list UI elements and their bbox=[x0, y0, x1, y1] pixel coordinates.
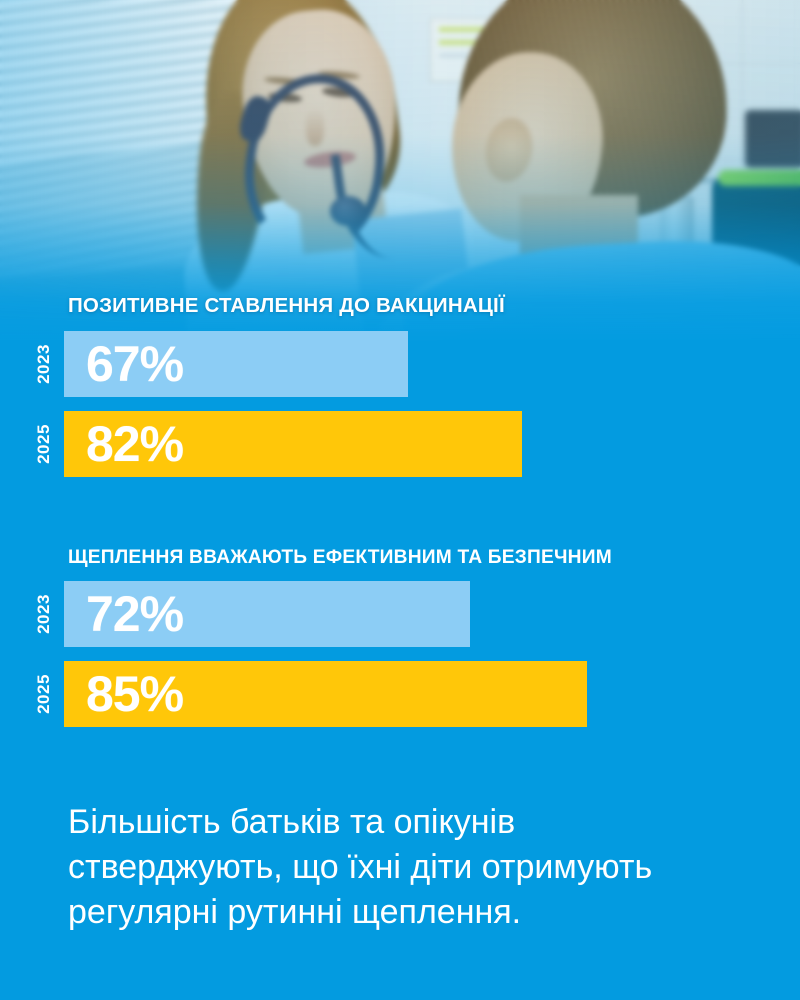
caption-line-1: Більшість батьків та опікунів bbox=[68, 800, 768, 845]
bar-value-label: 67% bbox=[86, 339, 183, 389]
chart-section-efficacy: ЩЕПЛЕННЯ ВВАЖАЮТЬ ЕФЕКТИВНИМ ТА БЕЗПЕЧНИ… bbox=[0, 548, 800, 727]
chart-title-attitude: ПОЗИТИВНЕ СТАВЛЕННЯ ДО ВАКЦИНАЦІЇ bbox=[68, 296, 800, 317]
year-axis-label-text: 2023 bbox=[34, 344, 54, 384]
year-axis-label-2023: 2023 bbox=[30, 581, 58, 647]
year-axis-label-text: 2025 bbox=[34, 674, 54, 714]
bar-attitude-2023: 67% bbox=[64, 331, 408, 397]
bar-value-label: 85% bbox=[86, 669, 183, 719]
caption-line-3: регулярні рутинні щеплення. bbox=[68, 890, 768, 935]
bar-row: 2023 72% bbox=[0, 581, 800, 647]
year-axis-label-2025: 2025 bbox=[30, 411, 58, 477]
infographic-canvas: ПОЗИТИВНЕ СТАВЛЕННЯ ДО ВАКЦИНАЦІЇ 2023 6… bbox=[0, 0, 800, 1000]
summary-caption: Більшість батьків та опікунів стверджуют… bbox=[68, 800, 768, 936]
bar-efficacy-2025: 85% bbox=[64, 661, 587, 727]
year-axis-label-2023: 2023 bbox=[30, 331, 58, 397]
bar-row: 2023 67% bbox=[0, 331, 800, 397]
bar-row: 2025 82% bbox=[0, 411, 800, 477]
year-axis-label-2025: 2025 bbox=[30, 661, 58, 727]
year-axis-label-text: 2025 bbox=[34, 424, 54, 464]
bar-row: 2025 85% bbox=[0, 661, 800, 727]
chart-section-attitude: ПОЗИТИВНЕ СТАВЛЕННЯ ДО ВАКЦИНАЦІЇ 2023 6… bbox=[0, 296, 800, 477]
chart-title-efficacy: ЩЕПЛЕННЯ ВВАЖАЮТЬ ЕФЕКТИВНИМ ТА БЕЗПЕЧНИ… bbox=[68, 548, 800, 567]
bar-efficacy-2023: 72% bbox=[64, 581, 470, 647]
bar-value-label: 72% bbox=[86, 589, 183, 639]
year-axis-label-text: 2023 bbox=[34, 594, 54, 634]
bar-attitude-2025: 82% bbox=[64, 411, 522, 477]
bar-value-label: 82% bbox=[86, 419, 183, 469]
caption-line-2: стверджують, що їхні діти отримують bbox=[68, 845, 768, 890]
